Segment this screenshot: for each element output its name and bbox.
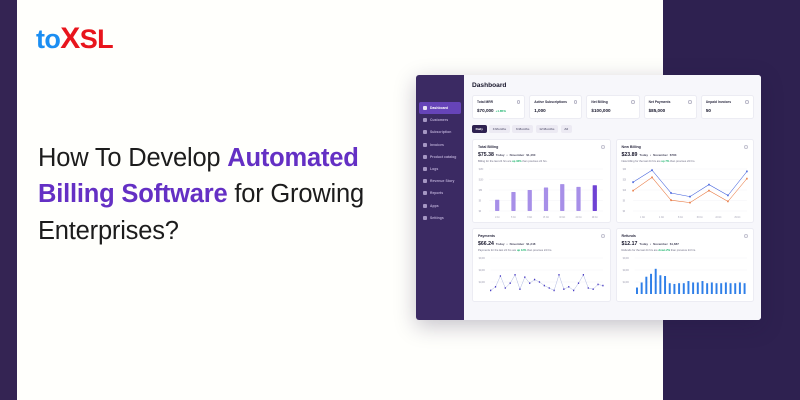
sidebar-item-label: Customers	[430, 118, 448, 122]
kpi-header: Net Payments	[649, 100, 692, 104]
kpi-card: Total MRR$70,000+1.85%	[472, 95, 525, 119]
svg-text:1 Oct: 1 Oct	[640, 216, 645, 219]
svg-text:15 Oct: 15 Oct	[543, 216, 549, 219]
kpi-label: Active Subscriptions	[534, 100, 567, 104]
card-subtitle: Payments for the last 24 hrs are up 12% …	[478, 249, 605, 252]
card-value: $23.89Today•November$783	[622, 152, 749, 158]
dashboard-main: Dashboard Total MRR$70,000+1.85%Active S…	[464, 75, 761, 320]
sidebar-item-label: Apps	[430, 204, 439, 208]
box-icon	[423, 155, 427, 159]
kpi-header: Net Billing	[591, 100, 634, 104]
dashboard-sidebar: DashboardCustomersSubscriptionInvoicesPr…	[416, 75, 464, 320]
sidebar-item-reports[interactable]: Reports	[419, 187, 461, 199]
chart-icon	[423, 179, 427, 183]
tab-3-months[interactable]: 3 Months	[489, 125, 510, 134]
sidebar-item-customers[interactable]: Customers	[419, 114, 461, 126]
card-header: New Billing	[622, 145, 749, 149]
sidebar-items-list: DashboardCustomersSubscriptionInvoicesPr…	[416, 102, 464, 224]
kpi-label: Net Payments	[649, 100, 671, 104]
kpi-header: Unpaid Invoices	[706, 100, 749, 104]
dashboard-page-title: Dashboard	[472, 82, 754, 89]
sidebar-item-label: Logs	[430, 167, 438, 171]
card-payments: Payments $66.24Today•November$1,248 Paym…	[472, 228, 611, 302]
card-month-label: November	[653, 242, 668, 246]
svg-text:$50: $50	[479, 190, 483, 192]
kpi-card: Unpaid Invoices50	[701, 95, 754, 119]
sidebar-item-apps[interactable]: Apps	[419, 200, 461, 212]
sidebar-item-label: Reports	[430, 191, 443, 195]
sidebar-item-settings[interactable]: Settings	[419, 212, 461, 224]
sidebar-item-product-catalog[interactable]: Product catalog	[419, 151, 461, 163]
card-period: Today	[639, 242, 648, 246]
card-subtitle: Billing for the last 24 hrs are up 32% t…	[478, 160, 605, 163]
svg-text:22 Oct: 22 Oct	[576, 216, 582, 219]
svg-text:8 Oct: 8 Oct	[678, 216, 683, 219]
gear-icon[interactable]	[744, 234, 748, 238]
card-value: $12.17Today•November$1,887	[622, 241, 749, 247]
sidebar-item-label: Subscription	[430, 130, 451, 134]
period-filter-tabs[interactable]: Daily3 Months6 Months12 MonthsAll	[472, 125, 754, 134]
svg-text:$3,000: $3,000	[479, 258, 486, 260]
svg-text:8 Oct: 8 Oct	[527, 216, 532, 219]
info-icon[interactable]	[574, 100, 578, 104]
svg-text:$150: $150	[479, 169, 484, 171]
tab-all[interactable]: All	[561, 125, 572, 134]
left-accent-bar	[0, 0, 17, 400]
sidebar-item-dashboard[interactable]: Dashboard	[419, 102, 461, 114]
svg-text:18 Oct: 18 Oct	[559, 216, 565, 219]
sidebar-item-label: Settings	[430, 216, 444, 220]
kpi-header: Total MRR	[477, 100, 520, 104]
file-icon	[423, 143, 427, 147]
card-subtitle: Refunds for the last 24 hrs are down 2% …	[622, 249, 749, 252]
card-header: Payments	[478, 234, 605, 238]
page-title: How To Develop Automated Billing Softwar…	[38, 140, 413, 249]
chart-total-billing: $0$50$100$150$01 Oct5 Oct8 Oct15 Oct18 O…	[478, 167, 605, 219]
svg-text:$1,000: $1,000	[479, 282, 486, 284]
kpi-value: 1,000	[534, 108, 577, 113]
refresh-icon	[423, 130, 427, 134]
tab-12-months[interactable]: 12 Months	[536, 125, 559, 134]
tab-daily[interactable]: Daily	[472, 125, 487, 134]
card-month-label: November	[510, 242, 525, 246]
card-month-value: $1,887	[670, 242, 679, 246]
svg-text:$0: $0	[622, 201, 625, 203]
chart-refunds: $1,000$2,000$3,000	[622, 256, 749, 298]
apps-icon	[423, 204, 427, 208]
svg-text:5 Oct: 5 Oct	[511, 216, 516, 219]
grid-icon	[423, 106, 427, 110]
card-month-label: November	[510, 153, 525, 157]
kpi-row: Total MRR$70,000+1.85%Active Subscriptio…	[472, 95, 754, 119]
card-month-label: November	[653, 153, 668, 157]
brand-logo-x: X	[60, 22, 79, 55]
card-month-value: $1,460	[526, 153, 535, 157]
sidebar-item-label: Product catalog	[430, 155, 456, 159]
kpi-card: Net Payments$85,000	[644, 95, 697, 119]
chart-payments: $1,000$2,000$3,000	[478, 256, 605, 298]
svg-text:$10: $10	[622, 190, 626, 192]
card-title: Total Billing	[478, 145, 498, 149]
card-header: Total Billing	[478, 145, 605, 149]
card-new-billing: New Billing $23.89Today•November$783 New…	[616, 139, 755, 223]
sidebar-item-label: Dashboard	[430, 106, 448, 110]
sidebar-item-revenue-story[interactable]: Revenue Story	[419, 175, 461, 187]
card-month-value: $1,248	[526, 242, 535, 246]
svg-text:$0: $0	[622, 211, 625, 213]
svg-text:$2,000: $2,000	[479, 270, 486, 272]
kpi-value: $100,000	[591, 108, 634, 113]
card-title: New Billing	[622, 145, 641, 149]
headline-pre: How To Develop	[38, 144, 227, 172]
card-header: Refunds	[622, 234, 749, 238]
kpi-delta: +1.85%	[496, 109, 506, 113]
svg-text:$1,000: $1,000	[622, 282, 629, 284]
svg-text:4 Oct: 4 Oct	[659, 216, 664, 219]
kpi-card: Active Subscriptions1,000	[529, 95, 582, 119]
kpi-card: Net Billing$100,000	[586, 95, 639, 119]
list-icon	[423, 167, 427, 171]
card-subtitle: New billing for the last 24 hrs are up 7…	[622, 160, 749, 163]
dashboard-screenshot: DashboardCustomersSubscriptionInvoicesPr…	[416, 75, 761, 320]
svg-text:29 Oct: 29 Oct	[734, 216, 740, 219]
card-period: Today	[639, 153, 648, 157]
sidebar-item-label: Revenue Story	[430, 179, 454, 183]
sidebar-item-logs[interactable]: Logs	[419, 163, 461, 175]
svg-text:22 Oct: 22 Oct	[715, 216, 721, 219]
svg-text:29 Oct: 29 Oct	[592, 216, 598, 219]
sidebar-item-invoices[interactable]: Invoices	[419, 139, 461, 151]
kpi-value: $70,000+1.85%	[477, 108, 520, 113]
card-value: $75.38Today•November$1,460	[478, 152, 605, 158]
sidebar-logo	[423, 88, 464, 97]
svg-text:$2,000: $2,000	[622, 270, 629, 272]
kpi-label: Total MRR	[477, 100, 493, 104]
info-icon[interactable]	[688, 100, 692, 104]
svg-text:$0: $0	[479, 211, 482, 213]
svg-text:$20: $20	[622, 180, 626, 182]
tab-6-months[interactable]: 6 Months	[512, 125, 533, 134]
card-title: Payments	[478, 234, 495, 238]
kpi-value: $85,000	[649, 108, 692, 113]
gear-icon	[423, 216, 427, 220]
sidebar-item-label: Invoices	[430, 143, 444, 147]
brand-logo-sl: SL	[80, 24, 113, 54]
card-total-billing: Total Billing $75.38Today•November$1,460…	[472, 139, 611, 223]
sidebar-item-subscription[interactable]: Subscription	[419, 126, 461, 138]
brand-logo-to: to	[36, 24, 60, 54]
svg-text:$100: $100	[479, 180, 484, 182]
card-title: Refunds	[622, 234, 636, 238]
gear-icon[interactable]	[744, 145, 748, 149]
card-month-value: $783	[670, 153, 677, 157]
card-period: Today	[496, 242, 505, 246]
report-icon	[423, 191, 427, 195]
info-icon[interactable]	[517, 100, 521, 104]
brand-logo: toXSL	[36, 24, 113, 54]
gear-icon[interactable]	[601, 145, 605, 149]
info-icon[interactable]	[631, 100, 635, 104]
page-root: toXSL How To Develop Automated Billing S…	[0, 0, 800, 400]
card-refunds: Refunds $12.17Today•November$1,887 Refun…	[616, 228, 755, 302]
svg-text:$0: $0	[479, 201, 482, 203]
card-value: $66.24Today•November$1,248	[478, 241, 605, 247]
info-icon[interactable]	[745, 100, 749, 104]
svg-text:15 Oct: 15 Oct	[696, 216, 702, 219]
kpi-value: 50	[706, 108, 749, 113]
gear-icon[interactable]	[601, 234, 605, 238]
kpi-header: Active Subscriptions	[534, 100, 577, 104]
chart-new-billing: $0$10$20$30$01 Oct4 Oct8 Oct15 Oct22 Oct…	[622, 167, 749, 219]
svg-text:1 Oct: 1 Oct	[495, 216, 500, 219]
svg-text:$30: $30	[622, 169, 626, 171]
metric-card-grid: Total Billing $75.38Today•November$1,460…	[472, 139, 754, 302]
users-icon	[423, 118, 427, 122]
svg-text:$3,000: $3,000	[622, 258, 629, 260]
kpi-label: Net Billing	[591, 100, 607, 104]
kpi-label: Unpaid Invoices	[706, 100, 731, 104]
card-period: Today	[496, 153, 505, 157]
